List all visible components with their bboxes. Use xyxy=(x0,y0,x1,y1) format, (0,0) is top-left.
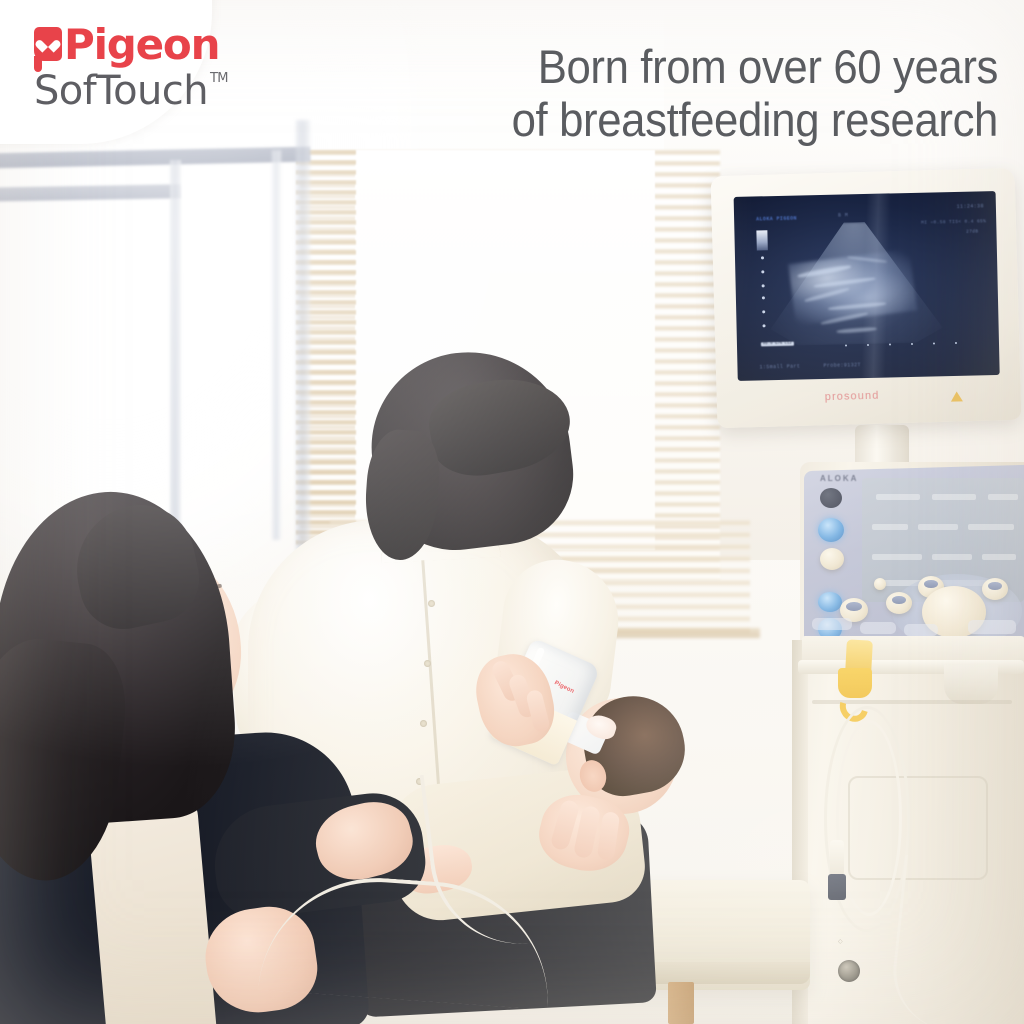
zoom-knob[interactable] xyxy=(982,578,1008,600)
ultrasound-probe-body[interactable] xyxy=(830,840,844,876)
probe-cable-tail xyxy=(887,855,1016,1024)
ultrasound-probe-label: Probe:9132T xyxy=(823,362,861,369)
ultrasound-gain-scale xyxy=(756,230,767,250)
headline-line-1: Born from over 60 years xyxy=(512,40,998,93)
monitor-brand-label: prosound xyxy=(825,390,880,404)
bottle-brand-mark: Pigeon xyxy=(553,680,575,695)
measure-button[interactable] xyxy=(818,592,842,612)
key-row-4[interactable] xyxy=(968,620,1016,634)
ultrasound-mode-label: B M xyxy=(838,212,848,218)
headline-line-2: of breastfeeding research xyxy=(512,93,998,146)
screen-glare xyxy=(861,191,891,381)
ultrasound-depth-readout: R6.0 G7% C12 xyxy=(761,342,794,347)
ultrasound-screen: ALOKA PIGEON B M 11:24:38 MI =0.58 TIS< … xyxy=(734,191,1000,381)
ultrasound-monitor: ALOKA PIGEON B M 11:24:38 MI =0.58 TIS< … xyxy=(711,168,1022,428)
advertisement-canvas: ALOKA PIGEON B M 11:24:38 MI =0.58 TIS< … xyxy=(0,0,1024,1024)
pigeon-wordmark: Pigeon xyxy=(34,24,219,66)
power-button[interactable] xyxy=(820,488,842,508)
softtouch-wordmark: SofTouchTM xyxy=(34,70,219,112)
softtouch-text: SofTouch xyxy=(34,68,208,114)
trademark-symbol: TM xyxy=(210,72,228,86)
small-knob[interactable] xyxy=(874,578,886,590)
window-mullion-vertical-3 xyxy=(296,120,310,550)
gain-knob[interactable] xyxy=(820,548,844,570)
freeze-button[interactable] xyxy=(818,518,844,542)
key-row-3[interactable] xyxy=(904,624,938,636)
key-row-1[interactable] xyxy=(812,618,852,630)
key-row-2[interactable] xyxy=(860,622,896,634)
brand-logo-lockup: Pigeon SofTouchTM xyxy=(34,24,219,112)
ultrasound-preset-label: 1:Small Part xyxy=(759,364,800,371)
headline: Born from over 60 years of breastfeeding… xyxy=(475,40,998,146)
pigeon-brand-text: Pigeon xyxy=(64,20,219,69)
ultrasound-timestamp: 11:24:38 xyxy=(957,203,984,210)
heart-icon xyxy=(40,35,56,50)
window-mullion-vertical-2 xyxy=(272,150,281,540)
ultrasound-probe-tip xyxy=(828,874,846,900)
ultrasound-brand-label: ALOKA PIGEON xyxy=(756,216,797,223)
window-mullion-vertical-1 xyxy=(170,160,181,540)
focus-knob[interactable] xyxy=(886,592,912,614)
ultrasound-power-line: MI =0.58 TIS< 0.4 65% xyxy=(921,219,986,225)
port-label: ◇ xyxy=(838,938,843,945)
warning-triangle-icon xyxy=(951,391,963,401)
probe-port[interactable] xyxy=(838,960,860,982)
examination-bed-leg xyxy=(668,982,694,1024)
console-brand-label: ALOKA xyxy=(820,474,858,483)
cable-spool xyxy=(944,664,998,704)
ultrasound-gain-line: 27dB xyxy=(966,229,979,234)
